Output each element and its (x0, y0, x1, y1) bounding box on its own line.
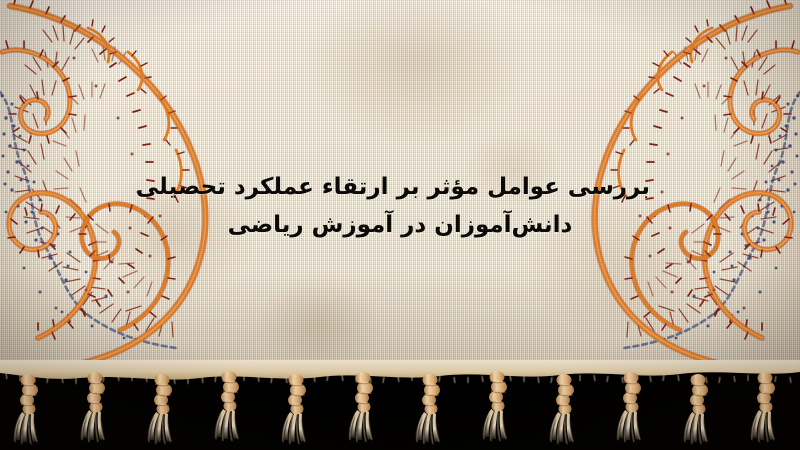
title-line-2: دانش‌آموزان در آموزش ریاضی (150, 206, 650, 244)
slide-title: بررسی عوامل مؤثر بر ارتقاء عملکرد تحصیلی… (0, 168, 800, 244)
title-slide: بررسی عوامل مؤثر بر ارتقاء عملکرد تحصیلی… (0, 0, 800, 450)
tassel-fringe (0, 360, 800, 450)
title-line-1: بررسی عوامل مؤثر بر ارتقاء عملکرد تحصیلی (150, 168, 650, 206)
